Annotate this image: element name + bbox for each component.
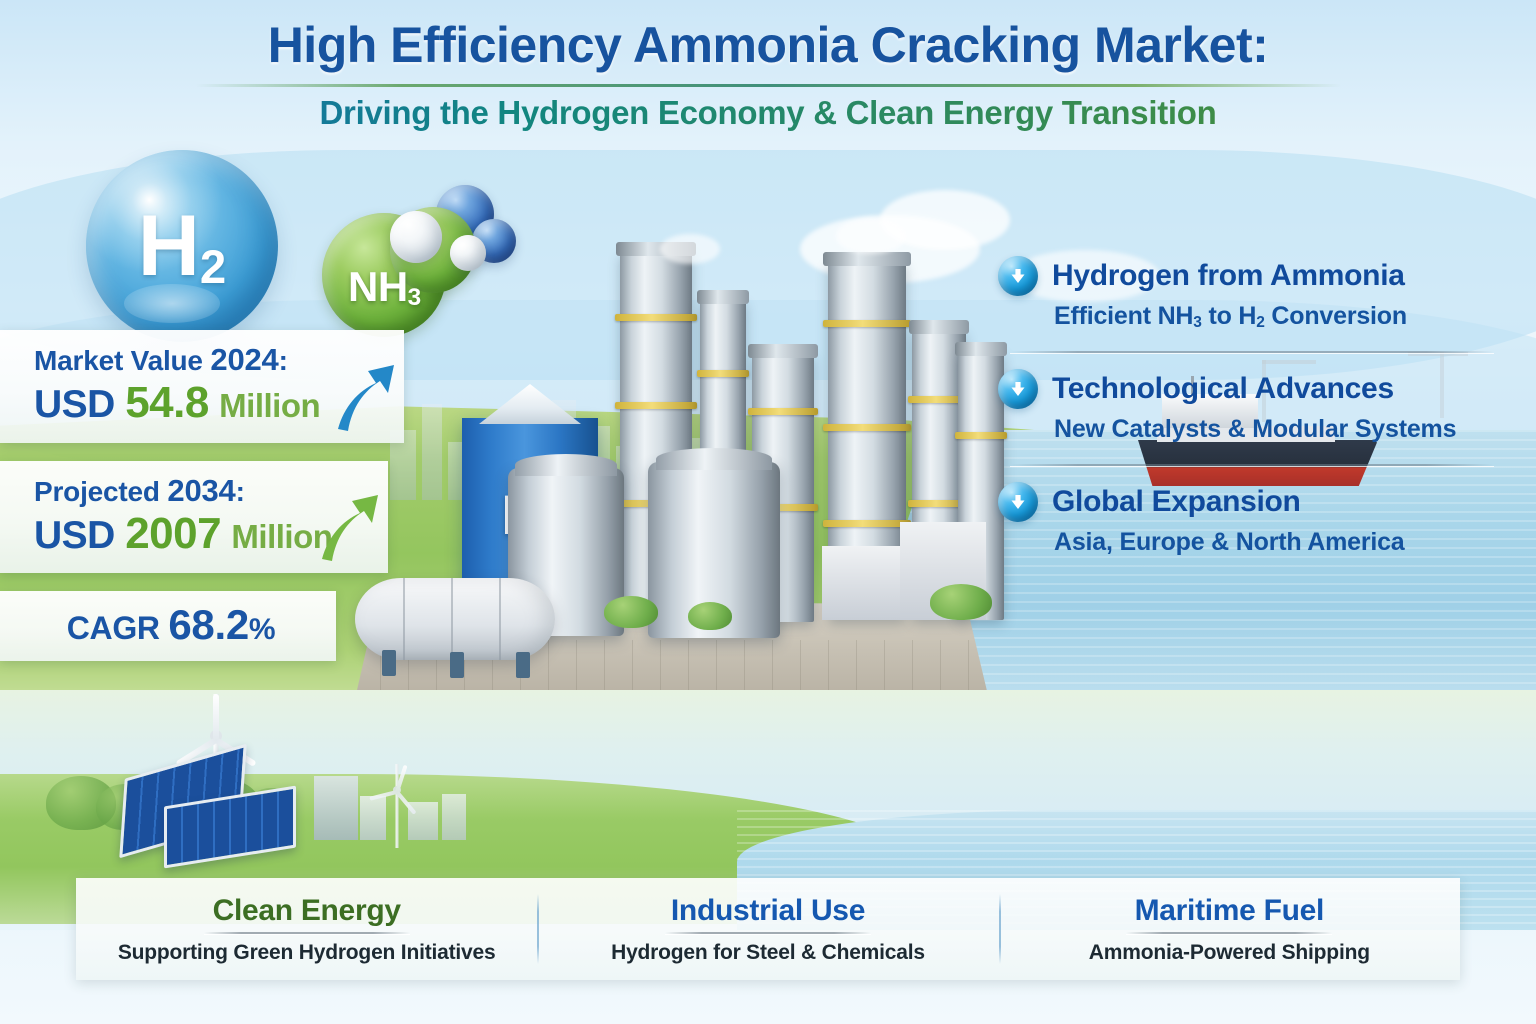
shrub-2	[688, 602, 732, 630]
stat-value-2034: USD 2007 Million	[34, 509, 360, 560]
mid-building-1	[360, 796, 386, 840]
hydrogen-atom-white-2	[450, 235, 486, 271]
header: High Efficiency Ammonia Cracking Market:…	[0, 18, 1536, 131]
bottom-card-maritime-fuel[interactable]: Maritime Fuel Ammonia-Powered Shipping	[999, 878, 1460, 980]
arrow-up-green-icon	[316, 487, 382, 565]
stat-card-market-value-2024: Market Value 2024: USD 54.8 Million	[0, 330, 404, 443]
stat-value-cagr: CAGR 68.2%	[34, 601, 308, 649]
bottom-card-industrial-use[interactable]: Industrial Use Hydrogen for Steel & Chem…	[537, 878, 998, 980]
mid-building-2	[408, 802, 438, 840]
feature-item-technological-advances[interactable]: Technological Advances New Catalysts & M…	[998, 365, 1502, 452]
hydrogen-bubble: H2	[86, 150, 278, 342]
feature-subtitle: New Catalysts & Modular Systems	[1054, 415, 1502, 444]
feature-divider-2	[1010, 464, 1494, 466]
stat-label-2024: Market Value 2024:	[34, 342, 376, 378]
steam-plume-2	[836, 218, 906, 254]
hydrogen-atom-white-1	[390, 211, 442, 263]
ammonia-molecule: NH3	[318, 185, 518, 335]
stat-card-projected-2034: Projected 2034: USD 2007 Million	[0, 461, 388, 574]
bottom-card-subtitle: Hydrogen for Steel & Chemicals	[611, 941, 925, 965]
mid-building-3	[442, 794, 466, 840]
page-title: High Efficiency Ammonia Cracking Market:	[0, 18, 1536, 72]
hydrogen-bubble-label: H2	[138, 203, 226, 289]
feature-title: Global Expansion	[1052, 485, 1301, 519]
bottom-info-panel: Clean Energy Supporting Green Hydrogen I…	[76, 878, 1460, 980]
feature-divider-1	[1010, 351, 1494, 353]
bottom-card-title: Clean Energy	[213, 894, 401, 928]
circle-down-arrow-icon	[998, 369, 1038, 409]
feature-subtitle: Asia, Europe & North America	[1054, 528, 1502, 557]
feature-list: Hydrogen from Ammonia Efficient NH3 to H…	[998, 252, 1502, 565]
turbine-pole	[396, 764, 399, 848]
mid-building-tall	[314, 776, 358, 840]
circle-down-arrow-icon	[998, 256, 1038, 296]
bottom-card-subtitle: Ammonia-Powered Shipping	[1089, 941, 1370, 965]
stat-value-2024: USD 54.8 Million	[34, 378, 376, 429]
steam-plume-1	[660, 234, 720, 264]
bottom-card-subtitle: Supporting Green Hydrogen Initiatives	[118, 941, 496, 965]
feature-item-global-expansion[interactable]: Global Expansion Asia, Europe & North Am…	[998, 478, 1502, 565]
infographic-canvas: High Efficiency Ammonia Cracking Market:…	[0, 0, 1536, 1024]
feature-head: Global Expansion	[998, 482, 1502, 522]
feature-title: Technological Advances	[1052, 372, 1394, 406]
stat-card-cagr: CAGR 68.2%	[0, 591, 336, 661]
feature-item-hydrogen-from-ammonia[interactable]: Hydrogen from Ammonia Efficient NH3 to H…	[998, 252, 1502, 339]
vessel-support-3	[516, 652, 530, 678]
ammonia-label: NH3	[348, 263, 421, 311]
feature-subtitle: Efficient NH3 to H2 Conversion	[1054, 302, 1502, 331]
bottom-card-rule	[665, 932, 871, 934]
title-divider	[196, 84, 1341, 87]
feature-head: Technological Advances	[998, 369, 1502, 409]
bottom-card-rule	[204, 932, 410, 934]
circle-down-arrow-icon	[998, 482, 1038, 522]
arrow-up-blue-icon	[332, 357, 398, 435]
bottom-card-rule	[1126, 932, 1332, 934]
feature-head: Hydrogen from Ammonia	[998, 256, 1502, 296]
stat-label-2034: Projected 2034:	[34, 473, 360, 509]
feature-title: Hydrogen from Ammonia	[1052, 259, 1405, 293]
shrub-3	[930, 584, 992, 620]
shrub-1	[604, 596, 658, 628]
turbine-blade-1	[213, 694, 219, 740]
page-subtitle: Driving the Hydrogen Economy & Clean Ene…	[0, 95, 1536, 131]
market-stats-group: Market Value 2024: USD 54.8 Million Proj…	[0, 330, 404, 661]
bottom-card-title: Maritime Fuel	[1135, 894, 1324, 928]
vessel-support-2	[450, 652, 464, 678]
bottom-card-title: Industrial Use	[671, 894, 865, 928]
bottom-card-clean-energy[interactable]: Clean Energy Supporting Green Hydrogen I…	[76, 878, 537, 980]
